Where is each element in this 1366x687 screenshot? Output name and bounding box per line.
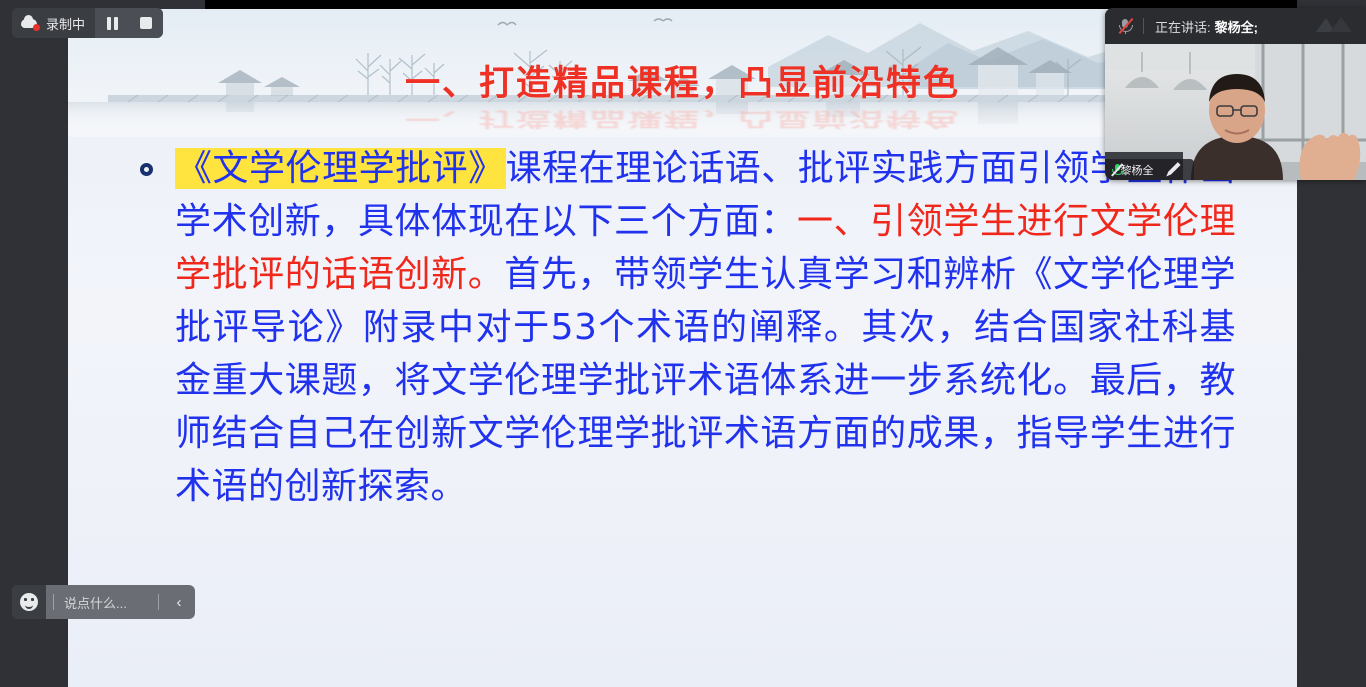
chat-input[interactable]: 说点什么... [64, 593, 150, 612]
recording-status: 录制中 [12, 8, 95, 38]
microphone-muted-icon [1111, 163, 1116, 176]
highlighted-course-title: 《文学伦理学批评》 [175, 148, 506, 189]
video-panel-header: 正在讲话:黎杨全; [1105, 8, 1366, 44]
chat-input-bar[interactable]: 说点什么... ‹ [12, 585, 195, 619]
divider [53, 594, 54, 610]
emoji-picker-button[interactable] [12, 585, 46, 619]
slide-title-text: 一、打造精品课程，凸显前沿特色 [405, 64, 960, 104]
left-gutter [0, 0, 68, 687]
bullet-row: 《文学伦理学批评》课程在理论话语、批评实践方面引领学生作出学术创新，具体体现在以… [136, 142, 1236, 513]
screen-share-meeting-window: 一、打造精品课程，凸显前沿特色 一、打造精品课程，凸显前沿特色 《文学伦理学批评… [0, 0, 1366, 687]
divider [1143, 18, 1144, 34]
speaking-prefix: 正在讲话: [1155, 20, 1211, 35]
microphone-muted-icon[interactable] [1117, 17, 1133, 35]
recording-control-bar: 录制中 [12, 8, 163, 38]
divider [158, 594, 159, 610]
recording-status-label: 录制中 [46, 14, 85, 33]
hollow-circle-bullet-icon [140, 163, 153, 176]
pencil-icon[interactable] [1159, 159, 1188, 180]
stop-icon [140, 17, 152, 29]
chevron-left-icon: ‹ [177, 594, 182, 611]
pause-icon [107, 17, 118, 30]
collapse-chat-button[interactable]: ‹ [167, 585, 195, 619]
speaker-name: 黎杨全; [1215, 20, 1258, 35]
badge-name-label: 黎杨全 [1121, 162, 1154, 178]
pause-recording-button[interactable] [95, 8, 129, 38]
cloud-record-icon [21, 17, 39, 30]
slide-body: 《文学伦理学批评》课程在理论话语、批评实践方面引领学生作出学术创新，具体体现在以… [136, 142, 1236, 513]
smiley-icon [20, 593, 38, 611]
body-paragraph: 《文学伦理学批评》课程在理论话语、批评实践方面引领学生作出学术创新，具体体现在以… [136, 142, 1236, 513]
speaking-status: 正在讲话:黎杨全; [1155, 17, 1258, 36]
video-feed: 黎杨全 [1105, 44, 1366, 180]
speaker-name-badge: 黎杨全 [1105, 159, 1194, 180]
mountain-logo-icon [1314, 14, 1358, 38]
stop-recording-button[interactable] [129, 8, 163, 38]
speaker-video-panel[interactable]: 正在讲话:黎杨全; [1105, 8, 1366, 180]
